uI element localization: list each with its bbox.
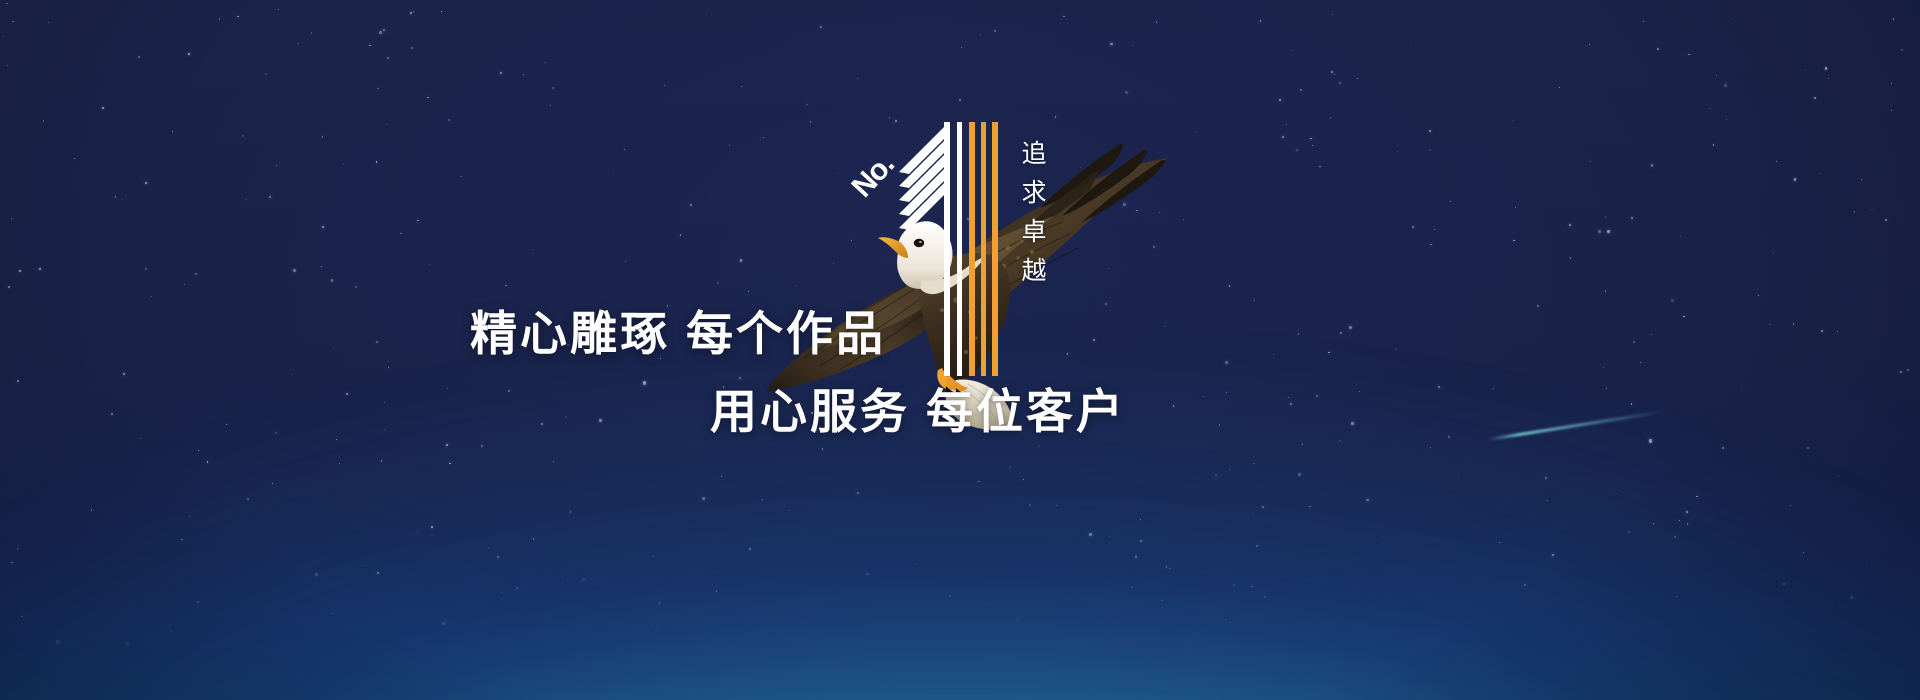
vertical-slogan-char-3: 越 [1021,259,1046,284]
vertical-slogan-char-2: 卓 [1021,220,1046,245]
headline-secondary: 用心服务 每位客户 [710,388,1126,435]
vertical-slogan: 追 求 卓 越 [1013,142,1055,284]
vertical-slogan-char-1: 求 [1021,181,1046,206]
hero-banner: No. 追 求 卓 越 精心雕琢 每个作品 用心服务 每位客户 [0,0,1920,700]
svg-text:No.: No. [845,148,900,204]
vertical-slogan-char-0: 追 [1021,142,1046,167]
headline-primary: 精心雕琢 每个作品 [470,310,886,357]
